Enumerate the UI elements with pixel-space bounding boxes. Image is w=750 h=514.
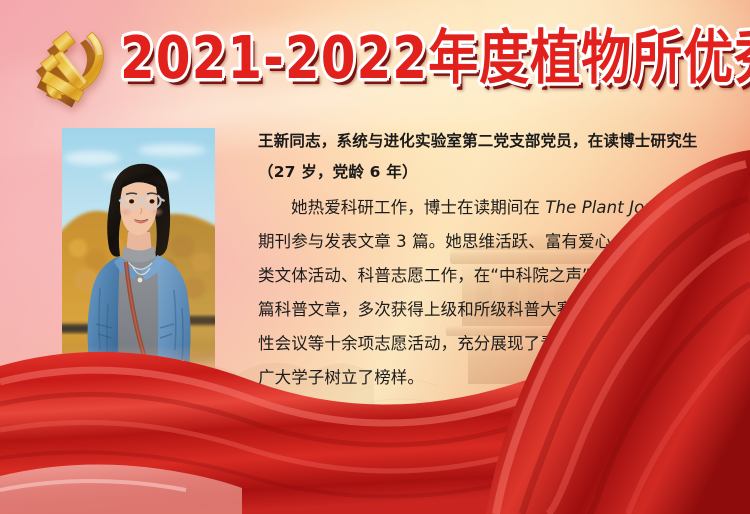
portrait-photo [62,128,215,400]
content-column: 王新同志，系统与进化实验室第二党支部党员，在读博士研究生（27 岁，党龄 6 年… [258,126,722,395]
body-text-part-2: 等期刊参与发表文章 3 篇。她思维活跃、富有爱心，积极参加各类文体活动、科普志愿… [258,198,711,387]
body-paragraph: 她热爱科研工作，博士在读期间在 The Plant Journal 等期刊参与发… [258,191,722,395]
page-title: 2021-2022年度植物所优秀共产党员 [120,20,740,96]
journal-name: The Plant Journal [545,198,687,217]
lead-paragraph: 王新同志，系统与进化实验室第二党支部党员，在读博士研究生（27 岁，党龄 6 年… [258,126,722,188]
body-text-part-1: 她热爱科研工作，博士在读期间在 [291,198,545,217]
hammer-and-sickle-icon [24,22,116,114]
poster-canvas: 2021-2022年度植物所优秀共产党员 [0,0,750,514]
